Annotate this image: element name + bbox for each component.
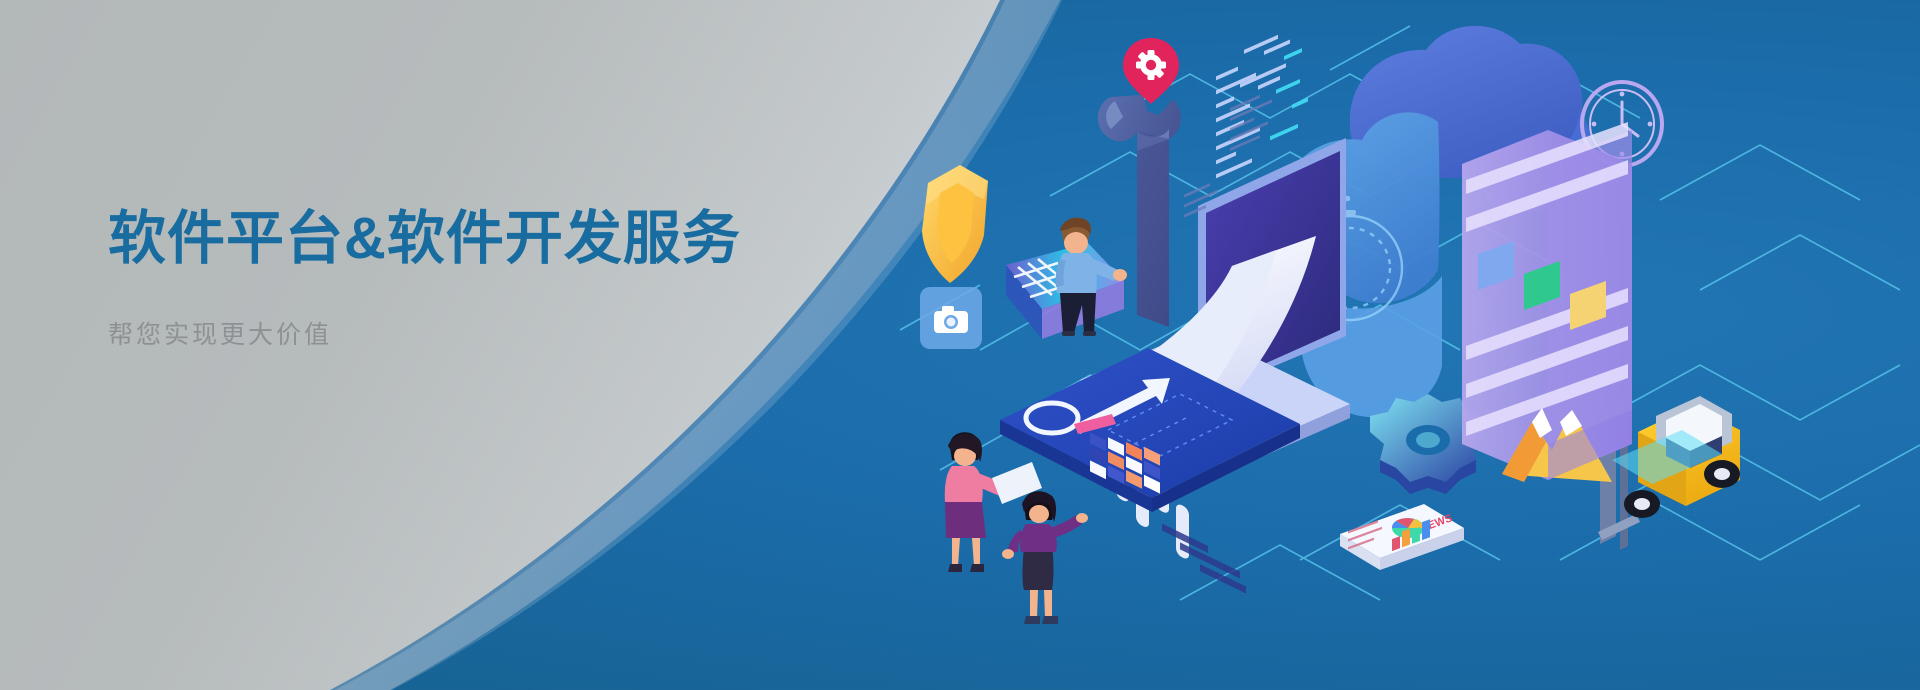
page-subtitle: 帮您实现更大价值 [108,315,868,351]
banner-text-block: 软件平台&软件开发服务 帮您实现更大价值 [108,206,868,351]
hero-banner: 软件平台&软件开发服务 帮您实现更大价值 [0,0,1920,690]
developer-person [1056,218,1127,336]
camera-tile-icon [920,287,982,349]
security-shield-icon [922,165,988,283]
gear-badge-icon [1123,38,1179,104]
analyst-person-purple [1002,491,1088,624]
hero-illustration: NEWS [880,0,1920,690]
page-title: 软件平台&软件开发服务 [108,206,868,273]
news-card: NEWS [1340,504,1464,570]
